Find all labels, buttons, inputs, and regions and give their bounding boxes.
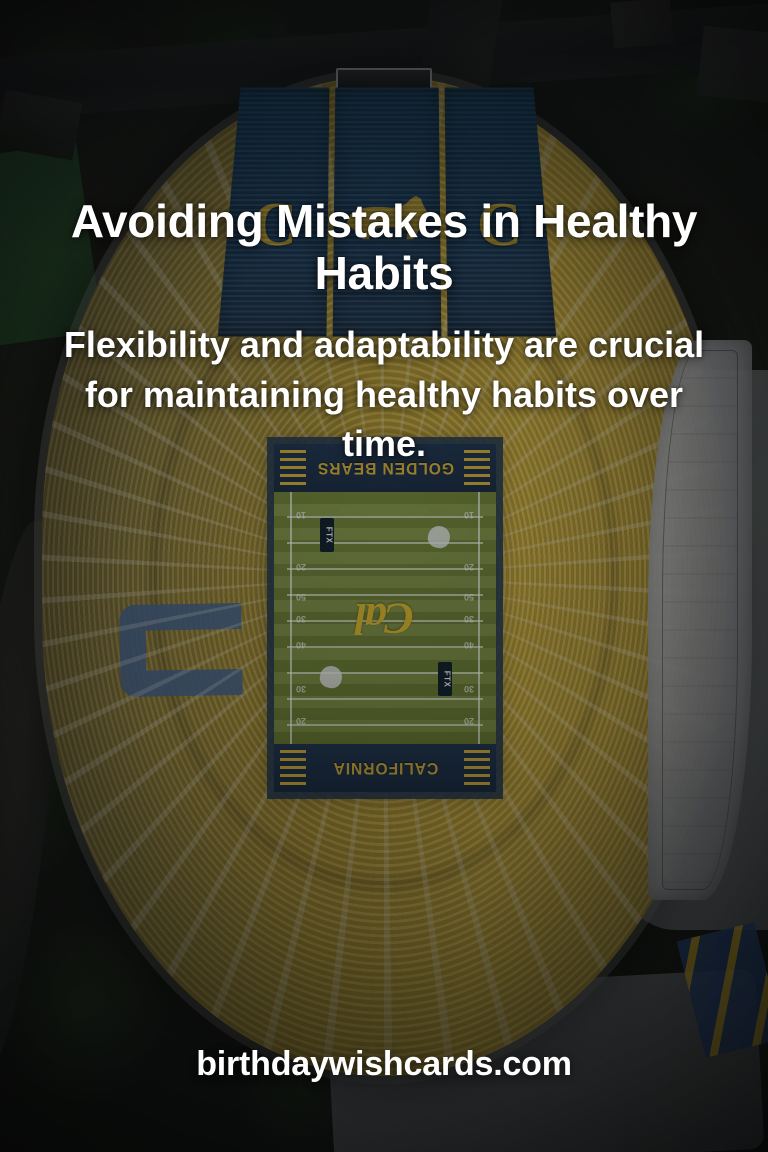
card-subtitle: Flexibility and adaptability are crucial… [52, 320, 716, 469]
text-layer: Avoiding Mistakes in Healthy Habits Flex… [0, 0, 768, 1152]
card-title: Avoiding Mistakes in Healthy Habits [28, 196, 740, 299]
footer-website-url: birthdaywishcards.com [0, 1044, 768, 1085]
pinterest-style-quote-card: C C 10 10 20 20 30 [0, 0, 768, 1152]
